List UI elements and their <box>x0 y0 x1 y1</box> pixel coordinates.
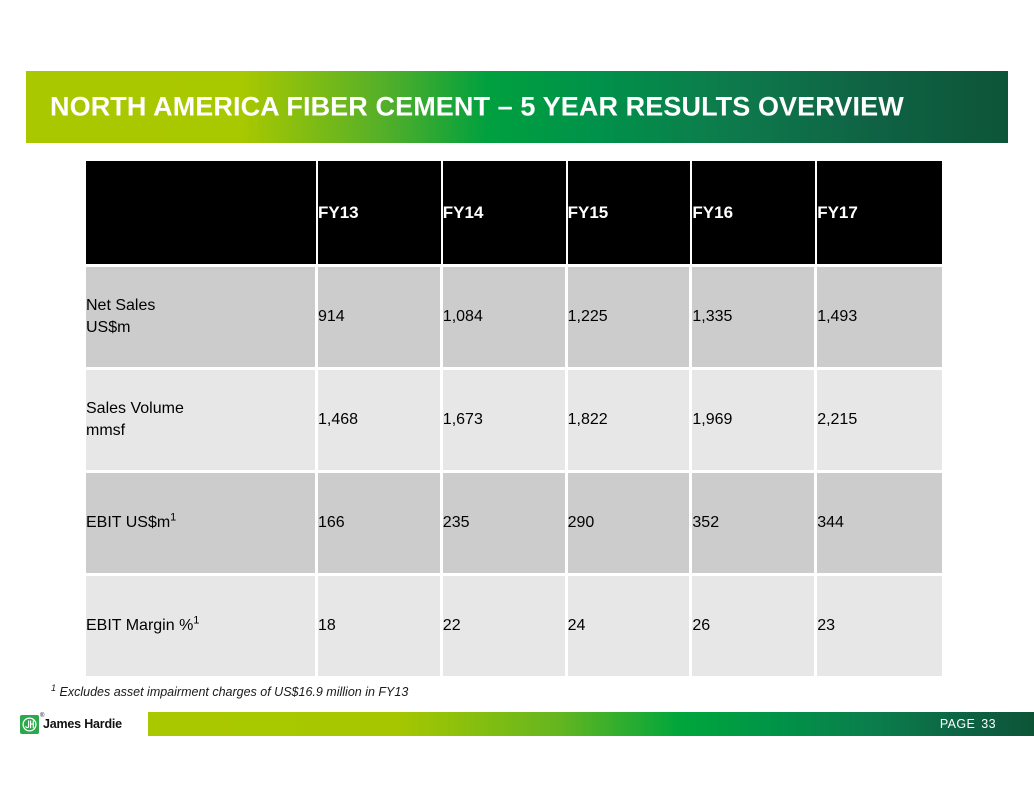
footnote-marker: 1 <box>51 683 56 693</box>
cell-sales-volume-fy16: 1,969 <box>692 367 817 470</box>
table-row: EBIT US$m1 166 235 290 352 344 <box>86 470 942 573</box>
table-row: EBIT Margin %1 18 22 24 26 23 <box>86 573 942 676</box>
table-row: Sales Volume mmsf 1,468 1,673 1,822 1,96… <box>86 367 942 470</box>
brand-wordmark: ®James Hardie <box>43 717 122 731</box>
table-row: Net Sales US$m 914 1,084 1,225 1,335 1,4… <box>86 264 942 367</box>
row-label-line-1: EBIT US$m <box>86 514 170 531</box>
cell-sales-volume-fy13: 1,468 <box>318 367 443 470</box>
cell-net-sales-fy14: 1,084 <box>443 264 568 367</box>
cell-ebit-fy16: 352 <box>692 470 817 573</box>
row-label-line-2: mmsf <box>86 420 315 442</box>
footnote-text: Excludes asset impairment charges of US$… <box>60 685 409 699</box>
column-header-fy15: FY15 <box>568 161 693 264</box>
slide-footer: PAGE33 ®James Hardie <box>0 712 1034 736</box>
row-label-line-1: Net Sales <box>86 295 315 317</box>
page-number: 33 <box>981 717 996 731</box>
cell-net-sales-fy15: 1,225 <box>568 264 693 367</box>
page-label: PAGE <box>940 717 975 731</box>
footnote: 1 Excludes asset impairment charges of U… <box>51 685 408 699</box>
cell-ebit-margin-fy14: 22 <box>443 573 568 676</box>
registered-mark: ® <box>40 713 44 719</box>
table-corner-header <box>86 161 318 264</box>
footer-gradient-bar: PAGE33 <box>148 712 1034 736</box>
column-header-fy14: FY14 <box>443 161 568 264</box>
row-label-net-sales: Net Sales US$m <box>86 264 318 367</box>
footnote-marker: 1 <box>170 512 176 524</box>
cell-ebit-fy13: 166 <box>318 470 443 573</box>
column-header-fy17: FY17 <box>817 161 942 264</box>
row-label-line-1: Sales Volume <box>86 398 315 420</box>
cell-net-sales-fy13: 914 <box>318 264 443 367</box>
page-title: NORTH AMERICA FIBER CEMENT – 5 YEAR RESU… <box>50 92 904 123</box>
brand-name: James Hardie <box>43 717 122 731</box>
cell-ebit-margin-fy13: 18 <box>318 573 443 676</box>
footnote-marker: 1 <box>193 615 199 627</box>
cell-sales-volume-fy17: 2,215 <box>817 367 942 470</box>
cell-ebit-margin-fy16: 26 <box>692 573 817 676</box>
row-label-sales-volume: Sales Volume mmsf <box>86 367 318 470</box>
row-label-ebit: EBIT US$m1 <box>86 470 318 573</box>
column-header-fy13: FY13 <box>318 161 443 264</box>
cell-ebit-fy14: 235 <box>443 470 568 573</box>
cell-net-sales-fy17: 1,493 <box>817 264 942 367</box>
cell-ebit-margin-fy17: 23 <box>817 573 942 676</box>
cell-ebit-fy15: 290 <box>568 470 693 573</box>
row-label-line-1: EBIT Margin % <box>86 617 193 634</box>
brand-logo: ®James Hardie <box>20 712 122 736</box>
five-year-results-table: FY13 FY14 FY15 FY16 FY17 Net Sales US$m … <box>86 161 942 676</box>
cell-ebit-margin-fy15: 24 <box>568 573 693 676</box>
column-header-fy16: FY16 <box>692 161 817 264</box>
page-indicator: PAGE33 <box>940 712 996 736</box>
james-hardie-monogram-icon <box>20 715 39 734</box>
slide-title-banner: NORTH AMERICA FIBER CEMENT – 5 YEAR RESU… <box>26 71 1008 143</box>
cell-sales-volume-fy15: 1,822 <box>568 367 693 470</box>
table-header-row: FY13 FY14 FY15 FY16 FY17 <box>86 161 942 264</box>
row-label-ebit-margin: EBIT Margin %1 <box>86 573 318 676</box>
cell-sales-volume-fy14: 1,673 <box>443 367 568 470</box>
cell-ebit-fy17: 344 <box>817 470 942 573</box>
row-label-line-2: US$m <box>86 317 315 339</box>
cell-net-sales-fy16: 1,335 <box>692 264 817 367</box>
